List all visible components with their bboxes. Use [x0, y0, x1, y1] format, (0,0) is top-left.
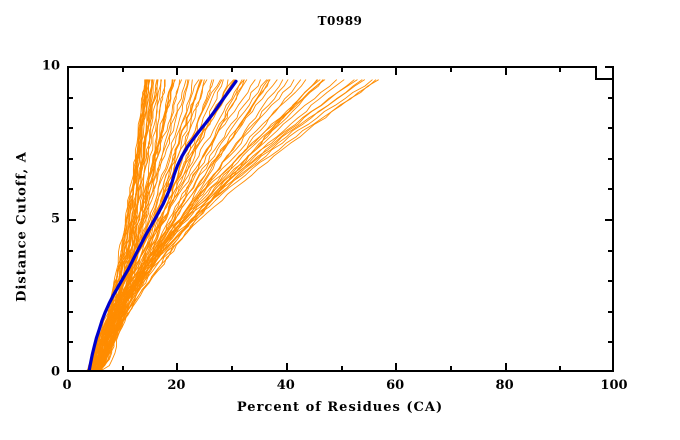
y-tick-2	[67, 311, 73, 313]
x-tick-20	[176, 363, 178, 372]
x-tick-60	[395, 363, 397, 372]
axis-line-top	[67, 66, 595, 68]
x-tick-label-20: 20	[167, 378, 185, 393]
y-tick-7	[67, 158, 73, 160]
y-axis-title: Distance Cutoff, A	[15, 117, 30, 337]
y-tick-3	[67, 280, 73, 282]
y-tick-10	[67, 66, 76, 68]
axis-line-top-stub	[595, 78, 614, 80]
y-tick-6	[67, 188, 73, 190]
y-tick-8	[67, 127, 73, 129]
x-tick-10	[122, 366, 124, 372]
x-tick-label-60: 60	[386, 378, 404, 393]
y-tick-9	[67, 97, 73, 99]
chart-root: T0989 020406080100 0510 Percent of Resid…	[0, 0, 680, 440]
y-tick-label-0: 0	[8, 365, 60, 380]
plot-frame	[67, 66, 614, 372]
y-tick-label-10: 10	[8, 59, 60, 74]
x-tick-70	[450, 366, 452, 372]
x-tick-label-100: 100	[600, 378, 627, 393]
axis-corner-notch	[595, 66, 597, 78]
x-tick-40	[286, 363, 288, 372]
y-tick-1	[67, 341, 73, 343]
x-tick-90	[559, 366, 561, 372]
y-tick-4	[67, 250, 73, 252]
x-tick-80	[505, 363, 507, 372]
x-tick-label-0: 0	[62, 378, 71, 393]
y-tick-5	[67, 219, 76, 221]
x-tick-label-80: 80	[496, 378, 514, 393]
x-axis-title: Percent of Residues (CA)	[0, 400, 680, 415]
x-tick-50	[341, 366, 343, 372]
y-tick-0	[67, 370, 76, 372]
x-tick-30	[231, 366, 233, 372]
x-tick-label-40: 40	[277, 378, 295, 393]
